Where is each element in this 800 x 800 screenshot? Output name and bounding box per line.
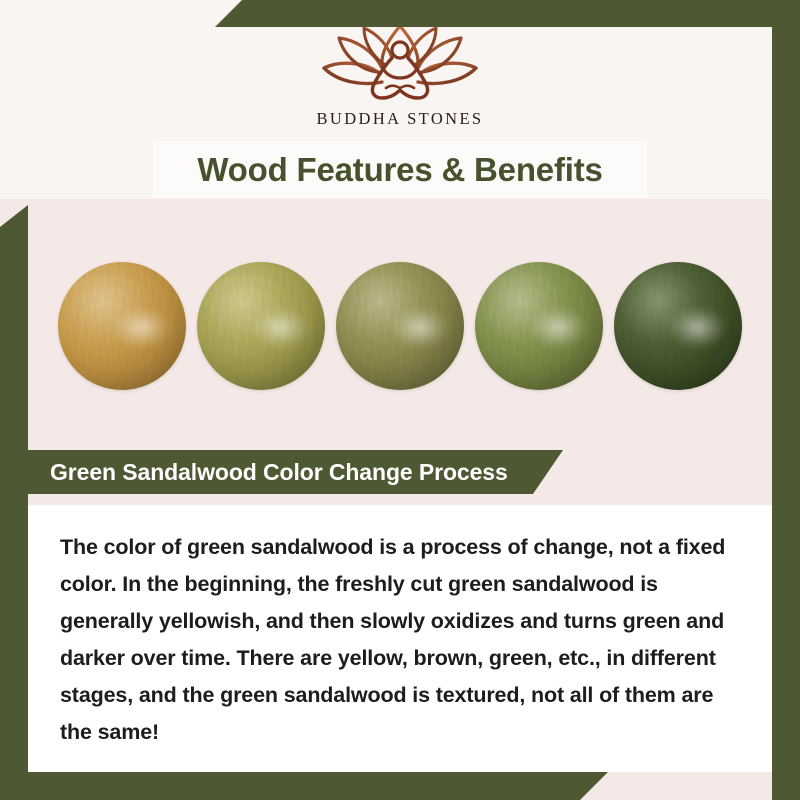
description-text: The color of green sandalwood is a proce… xyxy=(60,529,742,751)
bead-specular-highlight xyxy=(112,306,171,350)
bead-specular-highlight xyxy=(251,306,310,350)
bead-2 xyxy=(197,262,325,390)
infographic-page: BUDDHA STONES Wood Features & Benefits G… xyxy=(0,0,800,800)
bead-5 xyxy=(614,262,742,390)
bead-1 xyxy=(58,262,186,390)
frame-top-bar xyxy=(215,0,800,27)
section-banner-title: Green Sandalwood Color Change Process xyxy=(50,459,508,486)
section-banner: Green Sandalwood Color Change Process xyxy=(28,450,563,494)
brand-logo: BUDDHA STONES xyxy=(0,24,800,129)
bead-color-stage-row xyxy=(28,256,772,396)
brand-name: BUDDHA STONES xyxy=(316,109,483,129)
frame-right-bar xyxy=(772,0,800,800)
bead-4 xyxy=(475,262,603,390)
frame-bottom-bar xyxy=(0,772,608,800)
page-title: Wood Features & Benefits xyxy=(197,151,602,189)
frame-left-bar xyxy=(0,205,28,800)
description-panel: The color of green sandalwood is a proce… xyxy=(28,505,772,772)
bead-specular-highlight xyxy=(529,306,588,350)
bead-specular-highlight xyxy=(668,306,727,350)
bead-3 xyxy=(336,262,464,390)
lotus-meditation-icon xyxy=(312,24,488,102)
page-title-band: Wood Features & Benefits xyxy=(153,141,647,198)
bead-specular-highlight xyxy=(390,306,449,350)
